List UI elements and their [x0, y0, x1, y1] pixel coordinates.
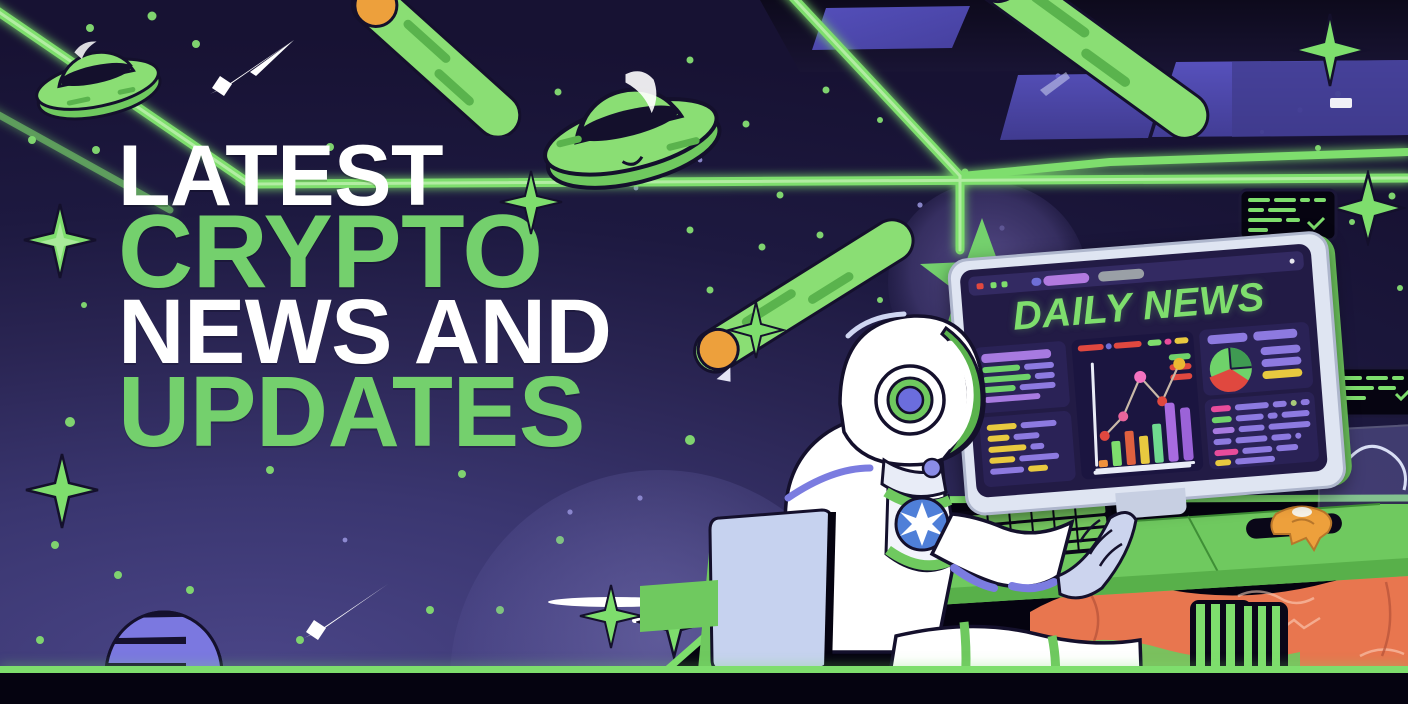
titlebar-dot-red[interactable]: [976, 283, 983, 290]
sparkle-star-1: [18, 200, 102, 284]
canister: [1178, 586, 1298, 696]
orange-gadget: [1262, 492, 1342, 558]
titlebar-pill-grey[interactable]: [1098, 268, 1145, 282]
titlebar-dot-green-1[interactable]: [990, 282, 996, 288]
sparkle-star-7: [1290, 10, 1370, 90]
panel-pie-stats[interactable]: [1199, 322, 1314, 396]
titlebar-dot-green-2[interactable]: [1001, 281, 1007, 287]
sparkle-star-8: [1330, 170, 1406, 246]
planet-banded: [82, 600, 282, 704]
panel-ticker-table[interactable]: [1204, 391, 1319, 469]
sparkle-star-4: [576, 582, 646, 652]
ufo-top-left: [28, 22, 168, 132]
pie-chart: [1206, 344, 1255, 393]
sparkle-star-2: [20, 450, 104, 534]
arrow-marker-icon: [717, 368, 738, 388]
poster-canvas: LATEST CRYPTO NEWS AND UPDATES: [0, 0, 1408, 704]
titlebar-indicator: [1289, 258, 1294, 263]
titlebar-pill-blue[interactable]: [1031, 277, 1042, 286]
shooting-star-bottom: [292, 580, 402, 650]
chair: [640, 490, 940, 704]
page-title: LATEST CRYPTO NEWS AND UPDATES: [118, 140, 611, 455]
comet-top-right: [940, 0, 1260, 140]
headline-line-4: UPDATES: [118, 369, 611, 455]
titlebar-pill-purple[interactable]: [1043, 273, 1090, 287]
comet-top-left: [318, 0, 568, 136]
shooting-star-top: [198, 36, 308, 106]
